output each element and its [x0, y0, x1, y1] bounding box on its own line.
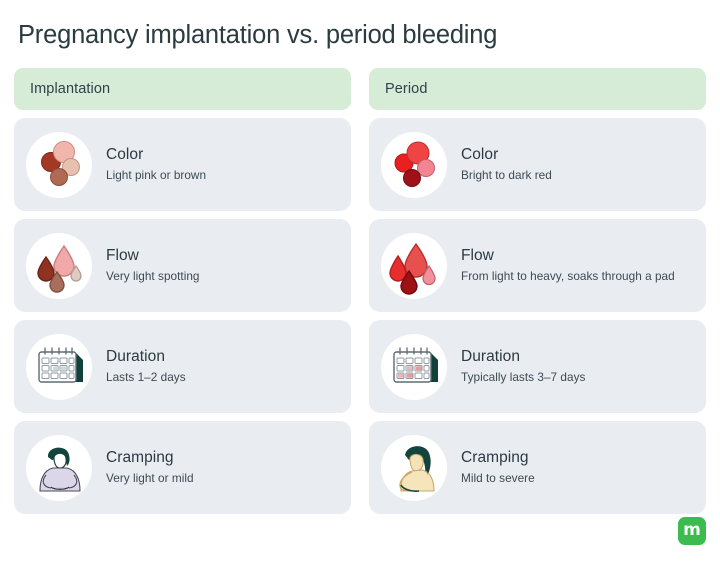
card-text: Color Bright to dark red: [461, 145, 552, 184]
card-implantation-duration[interactable]: Duration Lasts 1–2 days: [14, 320, 351, 413]
card-title: Flow: [461, 246, 675, 266]
column-header-implantation: Implantation: [14, 68, 351, 110]
card-period-flow[interactable]: Flow From light to heavy, soaks through …: [369, 219, 706, 312]
card-title: Color: [106, 145, 206, 165]
blood-drops-icon: [381, 233, 447, 299]
column-header-label: Implantation: [30, 81, 110, 97]
color-dots-icon: [26, 132, 92, 198]
card-text: Duration Typically lasts 3–7 days: [461, 347, 585, 386]
card-text: Color Light pink or brown: [106, 145, 206, 184]
card-subtitle: Very light or mild: [106, 470, 194, 487]
card-text: Cramping Very light or mild: [106, 448, 194, 487]
comparison-columns: Implantation Color Light pink or brown: [14, 68, 706, 514]
card-text: Flow From light to heavy, soaks through …: [461, 246, 675, 285]
column-implantation: Implantation Color Light pink or brown: [14, 68, 351, 514]
card-title: Cramping: [461, 448, 535, 468]
page-title: Pregnancy implantation vs. period bleedi…: [18, 19, 497, 51]
brand-logo-glyph: m: [683, 522, 701, 539]
card-subtitle: Bright to dark red: [461, 167, 552, 184]
card-subtitle: Light pink or brown: [106, 167, 206, 184]
card-implantation-color[interactable]: Color Light pink or brown: [14, 118, 351, 211]
card-period-duration[interactable]: Duration Typically lasts 3–7 days: [369, 320, 706, 413]
card-title: Color: [461, 145, 552, 165]
card-subtitle: Lasts 1–2 days: [106, 369, 186, 386]
card-implantation-flow[interactable]: Flow Very light spotting: [14, 219, 351, 312]
card-period-color[interactable]: Color Bright to dark red: [369, 118, 706, 211]
card-period-cramping[interactable]: Cramping Mild to severe: [369, 421, 706, 514]
column-period: Period Color Bright to dark red: [369, 68, 706, 514]
card-subtitle: Mild to severe: [461, 470, 535, 487]
card-title: Cramping: [106, 448, 194, 468]
blood-drops-icon: [26, 233, 92, 299]
card-subtitle: From light to heavy, soaks through a pad: [461, 268, 675, 285]
calendar-icon: [381, 334, 447, 400]
card-title: Duration: [106, 347, 186, 367]
column-header-label: Period: [385, 81, 428, 97]
card-text: Cramping Mild to severe: [461, 448, 535, 487]
calendar-icon: [26, 334, 92, 400]
infographic-page: Pregnancy implantation vs. period bleedi…: [0, 0, 720, 561]
card-subtitle: Very light spotting: [106, 268, 200, 285]
card-text: Flow Very light spotting: [106, 246, 200, 285]
card-title: Flow: [106, 246, 200, 266]
card-title: Duration: [461, 347, 585, 367]
column-header-period: Period: [369, 68, 706, 110]
brand-logo[interactable]: m: [678, 517, 706, 545]
card-subtitle: Typically lasts 3–7 days: [461, 369, 585, 386]
person-cramping-icon: [381, 435, 447, 501]
person-cramping-icon: [26, 435, 92, 501]
card-implantation-cramping[interactable]: Cramping Very light or mild: [14, 421, 351, 514]
color-dots-icon: [381, 132, 447, 198]
card-text: Duration Lasts 1–2 days: [106, 347, 186, 386]
